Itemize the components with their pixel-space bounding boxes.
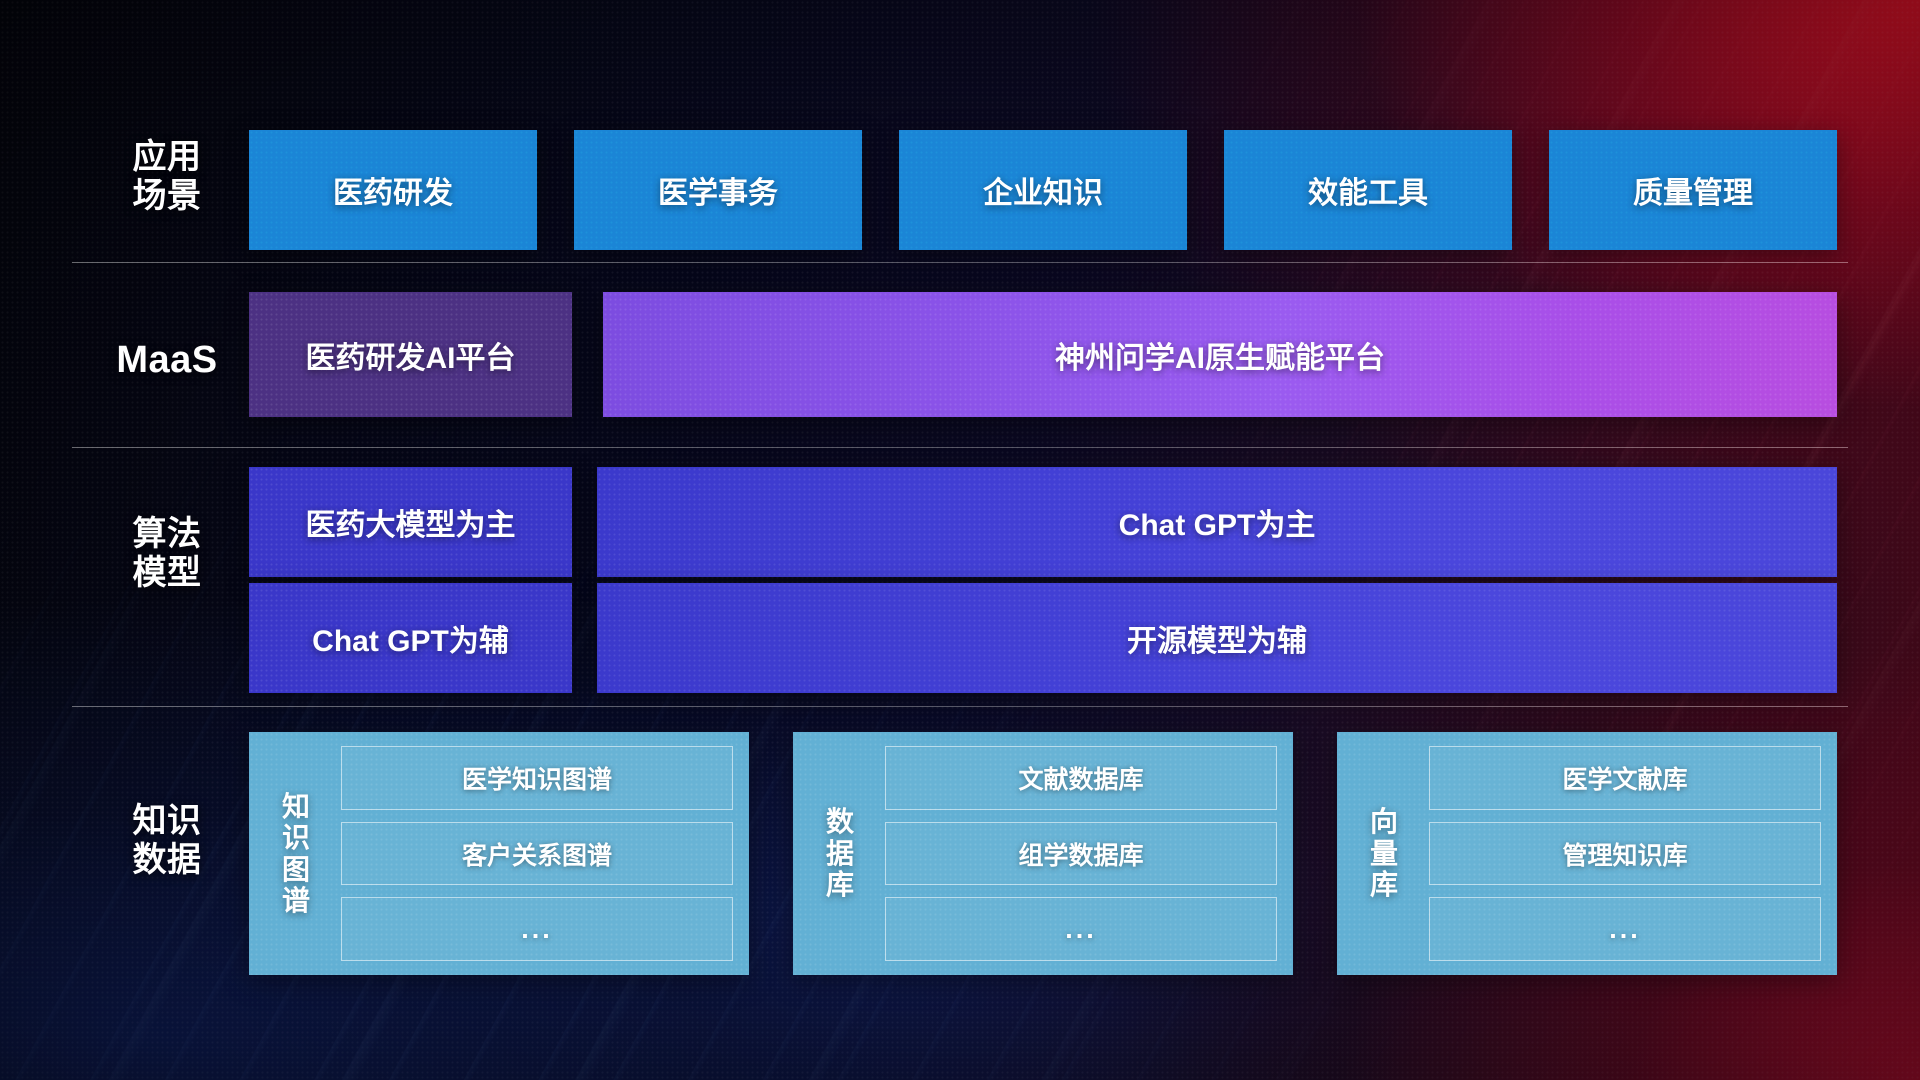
algorithm-chip-0-left-label: 医药大模型为主: [306, 500, 516, 544]
knowledge-item-2-2[interactable]: ...: [1429, 897, 1821, 961]
knowledge-item-2-1[interactable]: 管理知识库: [1429, 822, 1821, 886]
maas-chip-medical-ai-platform[interactable]: 医药研发AI平台: [249, 292, 572, 417]
knowledge-item-2-0[interactable]: 医学文献库: [1429, 746, 1821, 810]
knowledge-item-0-1[interactable]: 客户关系图谱: [341, 822, 733, 886]
app-chip-1[interactable]: 医学事务: [574, 130, 862, 250]
knowledge-group-1-title: 数 据 库: [809, 746, 871, 961]
app-chip-0[interactable]: 医药研发: [249, 130, 537, 250]
row-label-application-scenarios: 应用 场景: [72, 138, 262, 217]
maas-chip-medical-ai-platform-label: 医药研发AI平台: [306, 333, 516, 377]
app-chip-0-label: 医药研发: [333, 168, 453, 212]
knowledge-group-2-items: 医学文献库 管理知识库 ...: [1429, 746, 1821, 961]
app-chip-2[interactable]: 企业知识: [899, 130, 1187, 250]
knowledge-group-vector-database[interactable]: 向 量 库 医学文献库 管理知识库 ...: [1337, 732, 1837, 975]
algorithm-chip-1-left-label: Chat GPT为辅: [312, 616, 509, 660]
algorithm-chip-0-left[interactable]: 医药大模型为主: [249, 467, 572, 577]
algorithm-chip-0-right[interactable]: Chat GPT为主: [597, 467, 1837, 577]
knowledge-item-1-0[interactable]: 文献数据库: [885, 746, 1277, 810]
app-chip-3-label: 效能工具: [1308, 168, 1428, 212]
algorithm-chip-1-right-label: 开源模型为辅: [1127, 616, 1307, 660]
architecture-diagram: 应用 场景 医药研发 医学事务 企业知识 效能工具 质量管理 MaaS 医药研发…: [0, 0, 1920, 1080]
row-label-algorithm-models: 算法 模型: [72, 515, 262, 594]
row-label-knowledge-data: 知识 数据: [72, 802, 262, 881]
algorithm-chip-0-right-label: Chat GPT为主: [1119, 500, 1316, 544]
knowledge-group-0-title: 知 识 图 谱: [265, 746, 327, 961]
divider-1: [72, 262, 1848, 263]
knowledge-group-knowledge-graph[interactable]: 知 识 图 谱 医学知识图谱 客户关系图谱 ...: [249, 732, 749, 975]
algorithm-chip-1-right[interactable]: 开源模型为辅: [597, 583, 1837, 693]
divider-3: [72, 706, 1848, 707]
knowledge-item-0-2[interactable]: ...: [341, 897, 733, 961]
knowledge-group-1-items: 文献数据库 组学数据库 ...: [885, 746, 1277, 961]
app-chip-4-label: 质量管理: [1633, 168, 1753, 212]
knowledge-group-2-title: 向 量 库: [1353, 746, 1415, 961]
app-chip-4[interactable]: 质量管理: [1549, 130, 1837, 250]
divider-2: [72, 447, 1848, 448]
knowledge-group-database[interactable]: 数 据 库 文献数据库 组学数据库 ...: [793, 732, 1293, 975]
knowledge-item-0-0[interactable]: 医学知识图谱: [341, 746, 733, 810]
knowledge-item-1-1[interactable]: 组学数据库: [885, 822, 1277, 886]
app-chip-1-label: 医学事务: [658, 168, 778, 212]
maas-chip-shenzhou-platform-label: 神州问学AI原生赋能平台: [1055, 333, 1385, 377]
app-chip-3[interactable]: 效能工具: [1224, 130, 1512, 250]
row-label-maas: MaaS: [72, 338, 262, 382]
algorithm-chip-1-left[interactable]: Chat GPT为辅: [249, 583, 572, 693]
maas-chip-shenzhou-platform[interactable]: 神州问学AI原生赋能平台: [603, 292, 1837, 417]
knowledge-item-1-2[interactable]: ...: [885, 897, 1277, 961]
knowledge-group-0-items: 医学知识图谱 客户关系图谱 ...: [341, 746, 733, 961]
app-chip-2-label: 企业知识: [983, 168, 1103, 212]
